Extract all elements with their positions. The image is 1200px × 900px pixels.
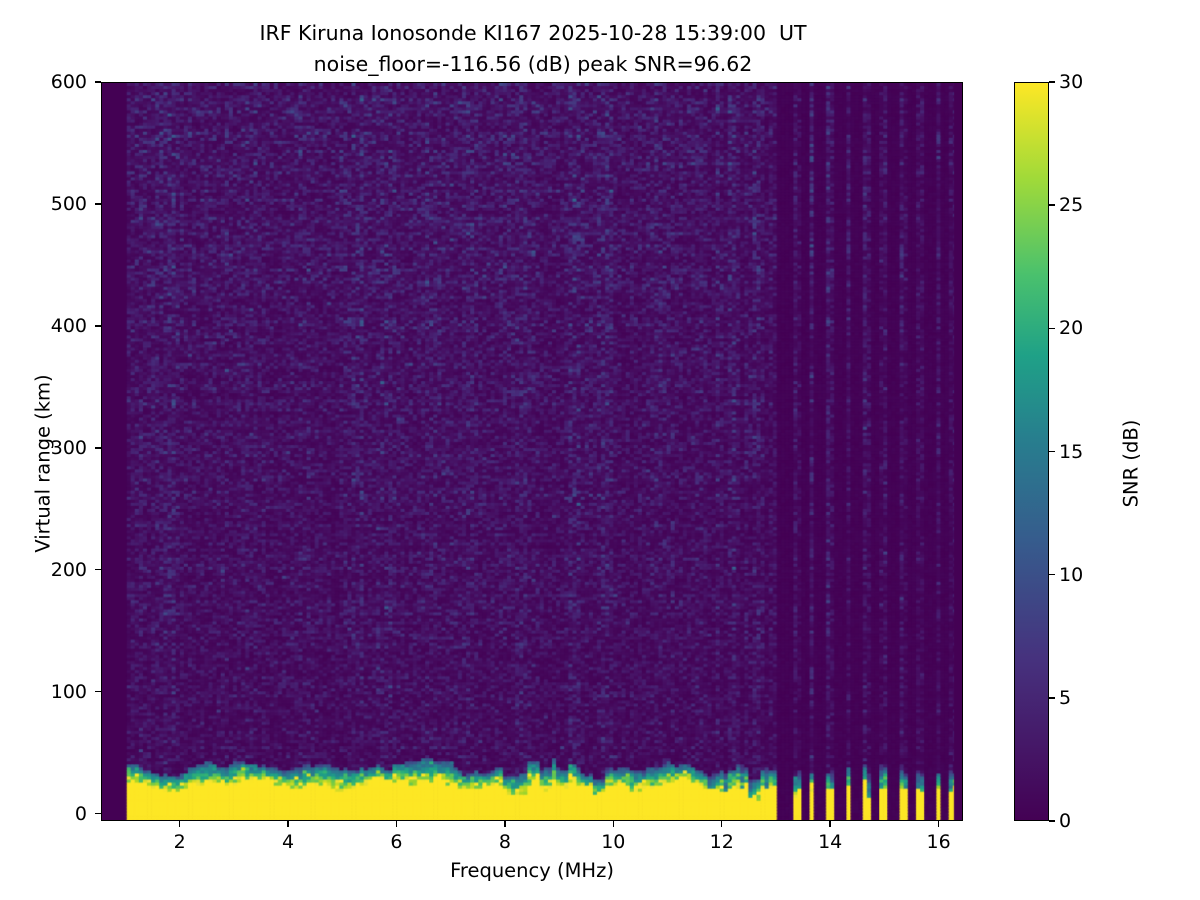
colorbar-tick-label: 20 — [1059, 317, 1083, 339]
x-tick-mark — [613, 821, 614, 827]
y-tick-label: 500 — [51, 193, 87, 215]
x-tick-label: 6 — [390, 831, 402, 853]
y-tick-label: 300 — [51, 437, 87, 459]
figure-title-line-2: noise_floor=-116.56 (dB) peak SNR=96.62 — [0, 52, 1066, 76]
x-tick-mark — [938, 821, 939, 827]
x-tick-label: 12 — [710, 831, 734, 853]
colorbar-tick-label: 30 — [1059, 71, 1083, 93]
colorbar-tick-label: 5 — [1059, 687, 1071, 709]
y-tick-mark — [95, 813, 101, 814]
y-tick-mark — [95, 447, 101, 448]
colorbar-tick-mark — [1049, 697, 1055, 698]
colorbar-tick-mark — [1049, 81, 1055, 82]
y-tick-mark — [95, 81, 101, 82]
x-tick-label: 8 — [499, 831, 511, 853]
colorbar-tick-mark — [1049, 328, 1055, 329]
colorbar-tick-label: 15 — [1059, 441, 1083, 463]
x-tick-mark — [287, 821, 288, 827]
colorbar-tick-mark — [1049, 451, 1055, 452]
y-axis-label: Virtual range (km) — [32, 314, 55, 614]
y-tick-label: 100 — [51, 681, 87, 703]
colorbar-tick-mark — [1049, 574, 1055, 575]
y-tick-label: 400 — [51, 315, 87, 337]
ionogram-plot-area — [101, 82, 963, 821]
colorbar-gradient — [1014, 82, 1049, 821]
colorbar-tick-mark — [1049, 204, 1055, 205]
x-tick-label: 4 — [282, 831, 294, 853]
colorbar-tick-label: 10 — [1059, 564, 1083, 586]
y-tick-mark — [95, 203, 101, 204]
x-tick-label: 10 — [601, 831, 625, 853]
y-tick-mark — [95, 325, 101, 326]
colorbar-tick-label: 0 — [1059, 810, 1071, 832]
x-tick-label: 14 — [818, 831, 842, 853]
colorbar-tick-label: 25 — [1059, 194, 1083, 216]
x-tick-label: 16 — [927, 831, 951, 853]
ionogram-figure: IRF Kiruna Ionosonde KI167 2025-10-28 15… — [0, 0, 1200, 900]
x-tick-mark — [721, 821, 722, 827]
x-axis-label: Frequency (MHz) — [101, 859, 963, 882]
y-tick-label: 600 — [51, 71, 87, 93]
y-tick-mark — [95, 569, 101, 570]
y-tick-mark — [95, 691, 101, 692]
figure-title-line-1: IRF Kiruna Ionosonde KI167 2025-10-28 15… — [0, 21, 1066, 45]
x-tick-mark — [396, 821, 397, 827]
y-tick-label: 0 — [75, 803, 87, 825]
x-tick-label: 2 — [174, 831, 186, 853]
colorbar-label: SNR (dB) — [1120, 334, 1143, 594]
x-tick-mark — [829, 821, 830, 827]
x-tick-mark — [504, 821, 505, 827]
x-tick-mark — [179, 821, 180, 827]
y-tick-label: 200 — [51, 559, 87, 581]
colorbar-tick-mark — [1049, 820, 1055, 821]
ionogram-heatmap — [102, 83, 962, 820]
